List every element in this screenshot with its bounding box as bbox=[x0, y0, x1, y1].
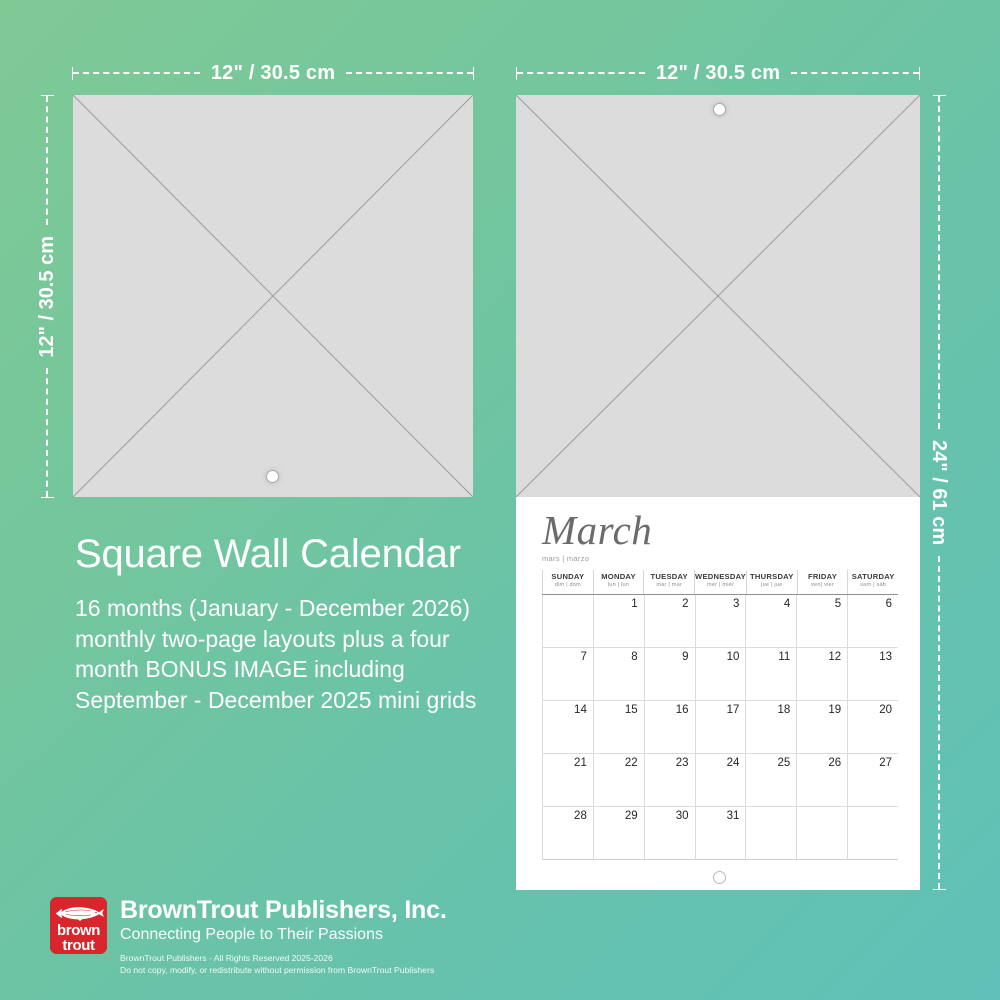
dimension-dash-lower bbox=[938, 556, 940, 889]
calendar-day-cell[interactable]: 29 bbox=[593, 807, 644, 859]
calendar-day-number: 13 bbox=[879, 651, 892, 663]
calendar-day-number: 2 bbox=[682, 598, 688, 610]
trout-fish-icon bbox=[54, 900, 104, 924]
day-header-name: TUESDAY bbox=[644, 573, 694, 582]
calendar-week-row: 21 22 23 24 25 26 27 bbox=[542, 754, 898, 807]
calendar-day-number: 31 bbox=[727, 810, 740, 822]
calendar-day-number: 27 bbox=[879, 757, 892, 769]
calendar-day-cell[interactable]: 5 bbox=[796, 595, 847, 647]
dimension-cap-bottom bbox=[933, 889, 946, 890]
calendar-day-cell[interactable]: 16 bbox=[644, 701, 695, 753]
hole-punch-icon-left-bottom bbox=[267, 471, 278, 482]
calendar-day-cell[interactable]: 21 bbox=[542, 754, 593, 806]
dimension-cap-bottom bbox=[41, 497, 54, 498]
calendar-week-row: 28 29 30 31 bbox=[542, 807, 898, 859]
day-header-sub: sam | sáb bbox=[848, 582, 898, 589]
calendar-day-number: 28 bbox=[574, 810, 587, 822]
day-header-tuesday: TUESDAY mar | mar bbox=[643, 570, 694, 594]
right-panel-height-label: 24" / 61 cm bbox=[929, 429, 949, 556]
legal-line-2: Do not copy, modify, or redistribute wit… bbox=[120, 965, 447, 976]
legal-notice: BrownTrout Publishers - All Rights Reser… bbox=[120, 953, 447, 976]
calendar-day-cell[interactable]: 27 bbox=[847, 754, 898, 806]
calendar-day-number: 24 bbox=[727, 757, 740, 769]
calendar-day-cell[interactable]: 23 bbox=[644, 754, 695, 806]
day-header-name: WEDNESDAY bbox=[695, 573, 746, 582]
calendar-day-cell[interactable]: 30 bbox=[644, 807, 695, 859]
day-header-sub: dim | dom bbox=[543, 582, 593, 589]
calendar-day-cell[interactable]: 15 bbox=[593, 701, 644, 753]
calendar-day-cell[interactable]: 7 bbox=[542, 648, 593, 700]
hole-punch-icon-right-bottom bbox=[713, 871, 726, 884]
calendar-day-number: 1 bbox=[631, 598, 637, 610]
dimension-dash-right bbox=[346, 72, 473, 74]
calendar-day-cell[interactable] bbox=[847, 807, 898, 859]
right-panel-height-dimension: 24" / 61 cm bbox=[930, 95, 948, 890]
calendar-day-cell[interactable]: 11 bbox=[745, 648, 796, 700]
dimension-dash-upper bbox=[938, 96, 940, 429]
calendar-day-cell[interactable]: 31 bbox=[695, 807, 746, 859]
day-header-name: THURSDAY bbox=[747, 573, 797, 582]
calendar-day-cell[interactable]: 19 bbox=[796, 701, 847, 753]
calendar-day-cell[interactable]: 18 bbox=[745, 701, 796, 753]
day-header-monday: MONDAY lun | lun bbox=[593, 570, 644, 594]
image-placeholder-cross-icon bbox=[73, 95, 473, 497]
calendar-day-cell[interactable]: 3 bbox=[695, 595, 746, 647]
calendar-day-cell[interactable]: 22 bbox=[593, 754, 644, 806]
image-placeholder-cross-icon bbox=[516, 95, 920, 497]
right-panel-width-label: 12" / 30.5 cm bbox=[645, 63, 791, 83]
calendar-day-cell[interactable]: 25 bbox=[745, 754, 796, 806]
calendar-day-cell[interactable]: 17 bbox=[695, 701, 746, 753]
dimension-cap-end bbox=[919, 67, 920, 80]
day-header-thursday: THURSDAY jue | jue bbox=[746, 570, 797, 594]
day-header-name: SUNDAY bbox=[543, 573, 593, 582]
calendar-day-number: 20 bbox=[879, 704, 892, 716]
left-image-panel bbox=[73, 95, 473, 497]
calendar-month-subtitle: mars | marzo bbox=[542, 554, 898, 563]
dimension-dash-left bbox=[73, 72, 200, 74]
calendar-day-number: 7 bbox=[580, 651, 586, 663]
day-header-name: SATURDAY bbox=[848, 573, 898, 582]
calendar-day-number: 8 bbox=[631, 651, 637, 663]
page-title: Square Wall Calendar bbox=[75, 533, 505, 575]
calendar-day-number: 14 bbox=[574, 704, 587, 716]
calendar-day-cell[interactable]: 4 bbox=[745, 595, 796, 647]
dimension-dash-upper bbox=[46, 96, 48, 225]
calendar-day-cell[interactable]: 14 bbox=[542, 701, 593, 753]
calendar-day-cell[interactable]: 9 bbox=[644, 648, 695, 700]
calendar-day-number: 4 bbox=[784, 598, 790, 610]
headline-block: Square Wall Calendar 16 months (January … bbox=[75, 533, 505, 715]
calendar-day-cell[interactable]: 13 bbox=[847, 648, 898, 700]
calendar-day-cell[interactable] bbox=[796, 807, 847, 859]
calendar-day-number: 17 bbox=[727, 704, 740, 716]
day-header-saturday: SATURDAY sam | sáb bbox=[847, 570, 898, 594]
legal-line-1: BrownTrout Publishers - All Rights Reser… bbox=[120, 953, 447, 964]
calendar-day-number: 11 bbox=[778, 651, 790, 663]
browntrout-logo[interactable]: brown trout bbox=[50, 897, 107, 954]
calendar-day-cell[interactable]: 8 bbox=[593, 648, 644, 700]
calendar-day-number: 5 bbox=[835, 598, 841, 610]
calendar-day-number: 3 bbox=[733, 598, 739, 610]
day-header-sub: ven| vier bbox=[798, 582, 848, 589]
left-panel-width-dimension: 12" / 30.5 cm bbox=[72, 64, 474, 82]
left-panel-height-label: 12" / 30.5 cm bbox=[37, 225, 57, 369]
calendar-day-number: 21 bbox=[574, 757, 587, 769]
logo-word-trout: trout bbox=[62, 939, 94, 953]
calendar-day-cell[interactable]: 26 bbox=[796, 754, 847, 806]
calendar-month-title: March bbox=[542, 511, 898, 551]
day-header-sub: lun | lun bbox=[594, 582, 644, 589]
calendar-day-number: 26 bbox=[828, 757, 841, 769]
calendar-day-cell[interactable] bbox=[542, 595, 593, 647]
calendar-day-cell[interactable]: 10 bbox=[695, 648, 746, 700]
calendar-day-number: 12 bbox=[828, 651, 841, 663]
day-header-name: FRIDAY bbox=[798, 573, 848, 582]
calendar-day-cell[interactable] bbox=[745, 807, 796, 859]
calendar-week-row: 14 15 16 17 18 19 20 bbox=[542, 701, 898, 754]
calendar-day-number: 29 bbox=[625, 810, 638, 822]
calendar-week-row: 7 8 9 10 11 12 13 bbox=[542, 648, 898, 701]
right-panel-width-dimension: 12" / 30.5 cm bbox=[516, 64, 920, 82]
calendar-day-cell[interactable]: 20 bbox=[847, 701, 898, 753]
calendar-day-number: 22 bbox=[625, 757, 638, 769]
day-header-friday: FRIDAY ven| vier bbox=[797, 570, 848, 594]
calendar-day-number: 15 bbox=[625, 704, 638, 716]
calendar-day-cell[interactable]: 24 bbox=[695, 754, 746, 806]
calendar-day-number: 23 bbox=[676, 757, 689, 769]
day-header-sub: jue | jue bbox=[747, 582, 797, 589]
day-header-sunday: SUNDAY dim | dom bbox=[542, 570, 593, 594]
calendar-day-number: 9 bbox=[682, 651, 688, 663]
calendar-day-number: 18 bbox=[777, 704, 790, 716]
footer-branding: brown trout BrownTrout Publishers, Inc. … bbox=[50, 897, 610, 976]
footer-text-column: BrownTrout Publishers, Inc. Connecting P… bbox=[120, 897, 447, 976]
calendar-day-number: 25 bbox=[777, 757, 790, 769]
product-description: 16 months (January - December 2026) mont… bbox=[75, 593, 505, 715]
calendar-page: March mars | marzo SUNDAY dim | dom MOND… bbox=[516, 497, 920, 890]
calendar-day-header-row: SUNDAY dim | dom MONDAY lun | lun TUESDA… bbox=[542, 570, 898, 595]
calendar-day-cell[interactable]: 12 bbox=[796, 648, 847, 700]
calendar-day-cell[interactable]: 6 bbox=[847, 595, 898, 647]
calendar-day-number: 19 bbox=[828, 704, 841, 716]
dimension-dash-left bbox=[517, 72, 645, 74]
poster-canvas: 12" / 30.5 cm 12" / 30.5 cm 12" / 30.5 c… bbox=[0, 0, 1000, 1000]
dimension-dash-lower bbox=[46, 368, 48, 497]
company-name: BrownTrout Publishers, Inc. bbox=[120, 897, 447, 923]
company-tagline: Connecting People to Their Passions bbox=[120, 925, 447, 944]
left-panel-height-dimension: 12" / 30.5 cm bbox=[38, 95, 56, 498]
left-panel-width-label: 12" / 30.5 cm bbox=[200, 63, 346, 83]
logo-word-brown: brown bbox=[57, 924, 100, 938]
calendar-day-number: 30 bbox=[676, 810, 689, 822]
calendar-day-number: 10 bbox=[727, 651, 740, 663]
right-image-panel bbox=[516, 95, 920, 497]
calendar-day-number: 16 bbox=[676, 704, 689, 716]
hole-punch-icon-right-top bbox=[714, 104, 725, 115]
calendar-day-cell[interactable]: 2 bbox=[644, 595, 695, 647]
calendar-day-cell[interactable]: 1 bbox=[593, 595, 644, 647]
calendar-grid: SUNDAY dim | dom MONDAY lun | lun TUESDA… bbox=[542, 570, 898, 860]
calendar-day-number: 6 bbox=[886, 598, 892, 610]
day-header-wednesday: WEDNESDAY mer | miér bbox=[694, 570, 746, 594]
dimension-cap-end bbox=[473, 67, 474, 80]
day-header-sub: mer | miér bbox=[695, 582, 746, 589]
day-header-sub: mar | mar bbox=[644, 582, 694, 589]
calendar-day-cell[interactable]: 28 bbox=[542, 807, 593, 859]
calendar-week-row: 1 2 3 4 5 6 bbox=[542, 595, 898, 648]
day-header-name: MONDAY bbox=[594, 573, 644, 582]
dimension-dash-right bbox=[791, 72, 919, 74]
